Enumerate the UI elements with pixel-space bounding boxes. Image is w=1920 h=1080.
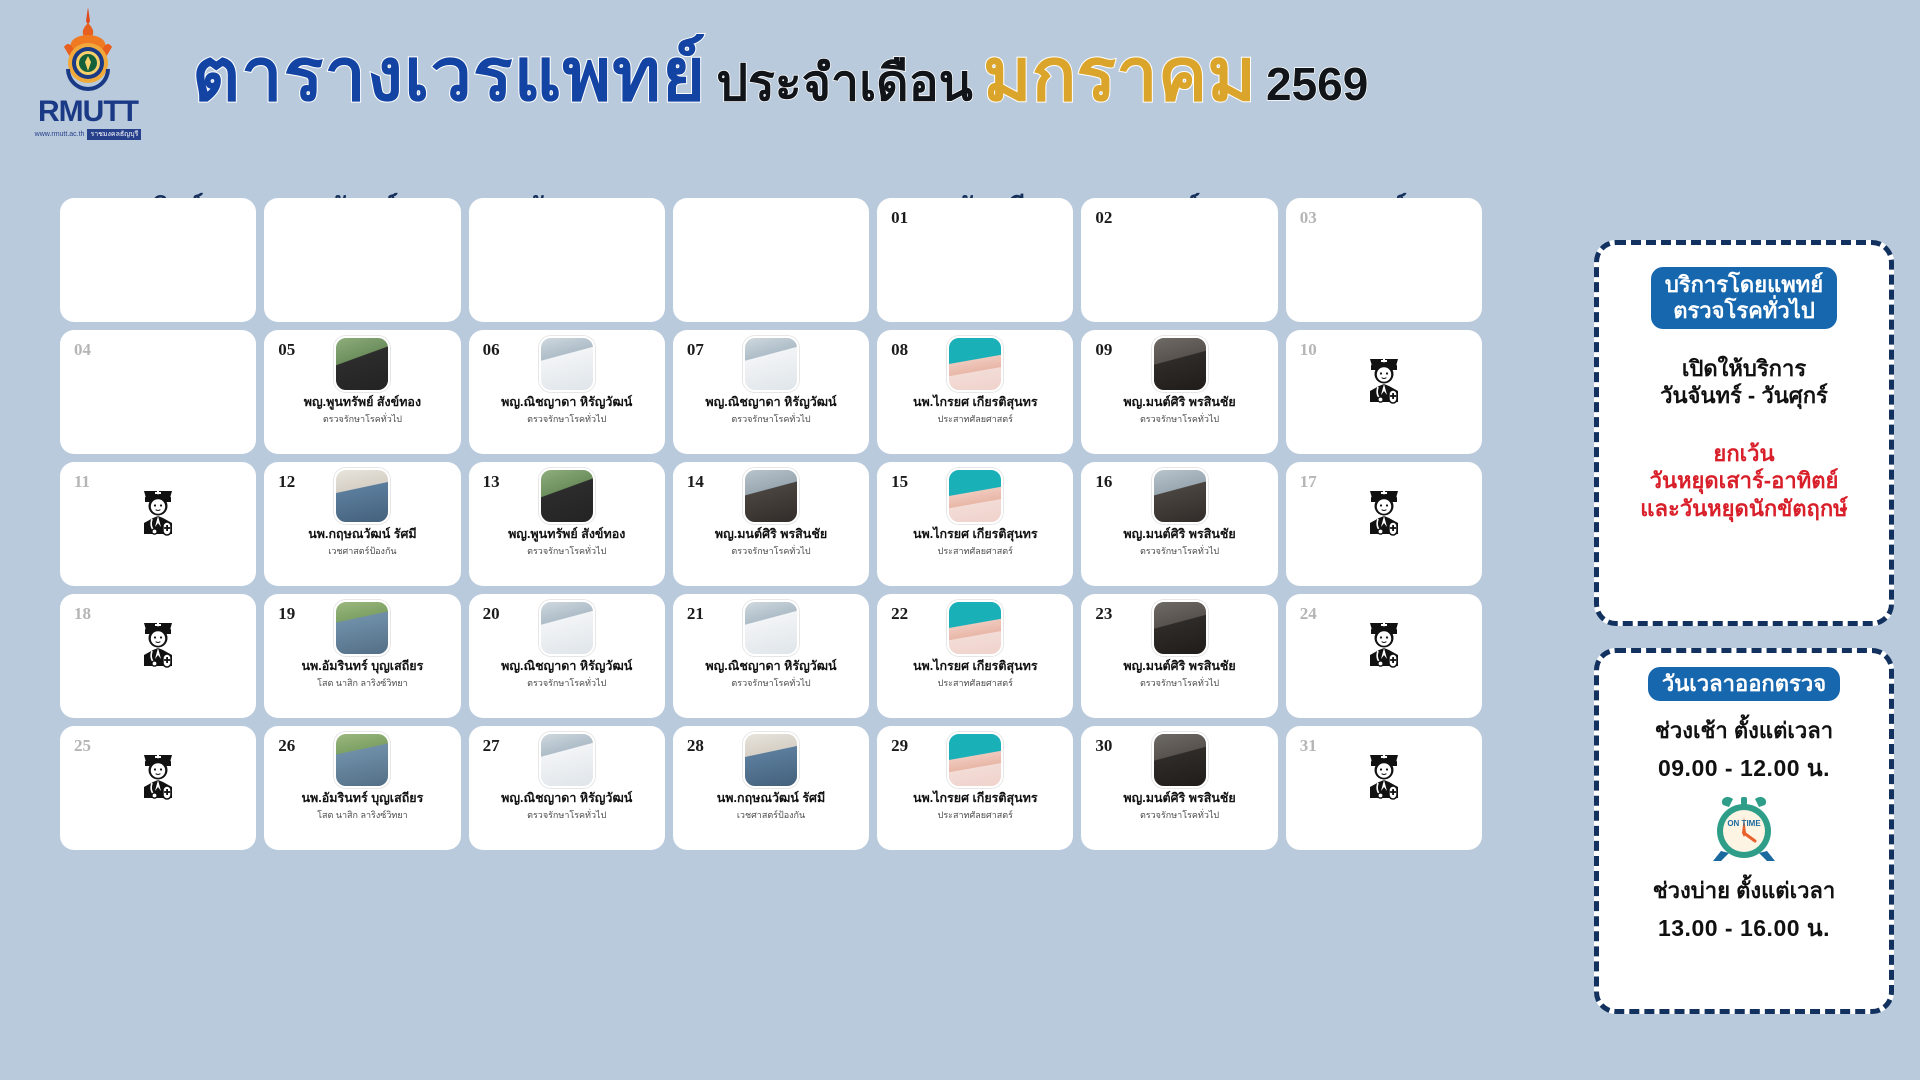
calendar-day-02: 02 <box>1081 198 1277 322</box>
doctor-specialty: ตรวจรักษาโรคทั่วไป <box>323 412 402 426</box>
calendar-day-16[interactable]: 16พญ.มนต์ศิริ พรสินชัยตรวจรักษาโรคทั่วไป <box>1081 462 1277 586</box>
service-except-line3: และวันหยุดนักขัตฤกษ์ <box>1640 495 1847 523</box>
doctor-photo <box>743 600 799 656</box>
doctor-specialty: ตรวจรักษาโรคทั่วไป <box>527 676 606 690</box>
doctor-photo <box>947 336 1003 392</box>
closed-day-marker <box>1286 612 1482 714</box>
doctor-specialty: ตรวจรักษาโรคทั่วไป <box>1140 544 1219 558</box>
page-title: ตารางเวรแพทย์ ประจำเดือน มกราคม 2569 <box>192 38 1368 112</box>
doctor-entry: นพ.อัมรินทร์ บุญเสถียรโสต นาสิก ลาริงซ์ว… <box>264 730 460 846</box>
doctor-name: พญ.พูนทรัพย์ สังข์ทอง <box>508 528 625 542</box>
doctor-photo <box>743 336 799 392</box>
service-chip: บริการโดยแพทย์ ตรวจโรคทั่วไป <box>1651 267 1837 329</box>
closed-day-marker <box>60 744 256 846</box>
doctor-specialty: ตรวจรักษาโรคทั่วไป <box>1140 412 1219 426</box>
doctor-entry: นพ.กฤษณวัฒน์ รัศมีเวชศาสตร์ป้องกัน <box>673 730 869 846</box>
calendar-day-04: 04 <box>60 330 256 454</box>
calendar-day-blank <box>264 198 460 322</box>
doctor-name: พญ.ณิชญาดา หิรัญวัฒน์ <box>705 660 836 674</box>
logo-subtext: www.rmutt.ac.th ราชมงคลธัญบุรี <box>35 129 142 140</box>
doctor-name: นพ.อัมรินทร์ บุญเสถียร <box>302 660 424 674</box>
doctor-entry: พญ.ณิชญาดา หิรัญวัฒน์ตรวจรักษาโรคทั่วไป <box>673 334 869 450</box>
doctor-name: พญ.ณิชญาดา หิรัญวัฒน์ <box>501 792 632 806</box>
doctor-photo <box>947 732 1003 788</box>
doctor-entry: พญ.ณิชญาดา หิรัญวัฒน์ตรวจรักษาโรคทั่วไป <box>469 598 665 714</box>
service-chip-line2: ตรวจโรคทั่วไป <box>1665 298 1823 324</box>
doctor-name: พญ.มนต์ศิริ พรสินชัย <box>1123 660 1235 674</box>
doctor-entry: พญ.มนต์ศิริ พรสินชัยตรวจรักษาโรคทั่วไป <box>1081 598 1277 714</box>
doctor-photo <box>539 336 595 392</box>
calendar-day-01: 01 <box>877 198 1073 322</box>
duty-roster-page: RMUTT www.rmutt.ac.th ราชมงคลธัญบุรี ตาร… <box>0 0 1920 1080</box>
doctor-name: นพ.ไกรยศ เกียรติสุนทร <box>913 528 1038 542</box>
doctor-name: นพ.ไกรยศ เกียรติสุนทร <box>913 660 1038 674</box>
title-year: 2569 <box>1266 61 1368 107</box>
closed-day-marker <box>1286 348 1482 450</box>
day-number: 04 <box>74 340 91 360</box>
day-number: 02 <box>1095 208 1112 228</box>
service-except-line2: วันหยุดเสาร์-อาทิตย์ <box>1640 467 1847 495</box>
nurse-icon <box>135 612 181 668</box>
doctor-entry: พญ.พูนทรัพย์ สังข์ทองตรวจรักษาโรคทั่วไป <box>469 466 665 582</box>
clock-label: ON TIME <box>1727 819 1761 828</box>
doctor-specialty: ประสาทศัลยศาสตร์ <box>938 676 1013 690</box>
doctor-photo <box>334 468 390 524</box>
doctor-photo <box>947 468 1003 524</box>
page-header: RMUTT www.rmutt.ac.th ราชมงคลธัญบุรี ตาร… <box>0 0 1920 150</box>
doctor-name: พญ.มนต์ศิริ พรสินชัย <box>1123 792 1235 806</box>
doctor-specialty: เวชศาสตร์ป้องกัน <box>328 544 396 558</box>
doctor-entry: พญ.ณิชญาดา หิรัญวัฒน์ตรวจรักษาโรคทั่วไป <box>673 598 869 714</box>
doctor-photo <box>1152 732 1208 788</box>
doctor-name: พญ.ณิชญาดา หิรัญวัฒน์ <box>705 396 836 410</box>
logo-tag: ราชมงคลธัญบุรี <box>87 129 141 140</box>
nurse-icon <box>1361 348 1407 404</box>
service-open-line1: เปิดให้บริการ <box>1660 355 1828 383</box>
calendar-day-14[interactable]: 14พญ.มนต์ศิริ พรสินชัยตรวจรักษาโรคทั่วไป <box>673 462 869 586</box>
doctor-name: พญ.พูนทรัพย์ สังข์ทอง <box>304 396 421 410</box>
doctor-entry: พญ.พูนทรัพย์ สังข์ทองตรวจรักษาโรคทั่วไป <box>264 334 460 450</box>
closed-day-marker <box>1286 744 1482 846</box>
service-except-block: ยกเว้น วันหยุดเสาร์-อาทิตย์ และวันหยุดนั… <box>1640 440 1847 523</box>
hours-chip: วันเวลาออกตรวจ <box>1648 667 1840 701</box>
calendar-day-24: 24 <box>1286 594 1482 718</box>
doctor-photo <box>1152 336 1208 392</box>
closed-day-marker <box>60 480 256 582</box>
calendar-grid: 0102030405พญ.พูนทรัพย์ สังข์ทองตรวจรักษา… <box>60 198 1482 850</box>
service-info-panel: บริการโดยแพทย์ ตรวจโรคทั่วไป เปิดให้บริก… <box>1594 240 1894 626</box>
calendar-day-11: 11 <box>60 462 256 586</box>
doctor-name: นพ.กฤษณวัฒน์ รัศมี <box>308 528 416 542</box>
service-chip-line1: บริการโดยแพทย์ <box>1665 272 1823 298</box>
rmutt-emblem-icon <box>42 5 134 101</box>
calendar-day-blank <box>469 198 665 322</box>
calendar-day-27[interactable]: 27พญ.ณิชญาดา หิรัญวัฒน์ตรวจรักษาโรคทั่วไ… <box>469 726 665 850</box>
calendar-day-blank <box>673 198 869 322</box>
calendar-day-18: 18 <box>60 594 256 718</box>
doctor-photo <box>334 336 390 392</box>
doctor-entry: พญ.มนต์ศิริ พรสินชัยตรวจรักษาโรคทั่วไป <box>1081 466 1277 582</box>
doctor-specialty: ตรวจรักษาโรคทั่วไป <box>527 808 606 822</box>
day-number: 01 <box>891 208 908 228</box>
calendar-day-blank <box>60 198 256 322</box>
calendar-day-21[interactable]: 21พญ.ณิชญาดา หิรัญวัฒน์ตรวจรักษาโรคทั่วไ… <box>673 594 869 718</box>
doctor-entry: นพ.กฤษณวัฒน์ รัศมีเวชศาสตร์ป้องกัน <box>264 466 460 582</box>
nurse-icon <box>135 744 181 800</box>
doctor-specialty: เวชศาสตร์ป้องกัน <box>737 808 805 822</box>
doctor-specialty: ตรวจรักษาโรคทั่วไป <box>731 544 810 558</box>
doctor-entry: นพ.อัมรินทร์ บุญเสถียรโสต นาสิก ลาริงซ์ว… <box>264 598 460 714</box>
calendar-day-15[interactable]: 15นพ.ไกรยศ เกียรติสุนทรประสาทศัลยศาสตร์ <box>877 462 1073 586</box>
calendar-day-06[interactable]: 06พญ.ณิชญาดา หิรัญวัฒน์ตรวจรักษาโรคทั่วไ… <box>469 330 665 454</box>
doctor-entry: พญ.มนต์ศิริ พรสินชัยตรวจรักษาโรคทั่วไป <box>1081 730 1277 846</box>
doctor-entry: พญ.ณิชญาดา หิรัญวัฒน์ตรวจรักษาโรคทั่วไป <box>469 730 665 846</box>
nurse-icon <box>1361 612 1407 668</box>
nurse-icon <box>135 480 181 536</box>
doctor-photo <box>1152 600 1208 656</box>
doctor-photo <box>334 732 390 788</box>
doctor-entry: พญ.ณิชญาดา หิรัญวัฒน์ตรวจรักษาโรคทั่วไป <box>469 334 665 450</box>
doctor-name: พญ.ณิชญาดา หิรัญวัฒน์ <box>501 396 632 410</box>
doctor-specialty: ตรวจรักษาโรคทั่วไป <box>527 544 606 558</box>
doctor-photo <box>539 468 595 524</box>
day-number: 03 <box>1300 208 1317 228</box>
calendar-day-28[interactable]: 28นพ.กฤษณวัฒน์ รัศมีเวชศาสตร์ป้องกัน <box>673 726 869 850</box>
nurse-icon <box>1361 744 1407 800</box>
doctor-specialty: ตรวจรักษาโรคทั่วไป <box>527 412 606 426</box>
doctor-entry: นพ.ไกรยศ เกียรติสุนทรประสาทศัลยศาสตร์ <box>877 598 1073 714</box>
title-main: ตารางเวรแพทย์ <box>192 38 706 112</box>
doctor-name: นพ.อัมรินทร์ บุญเสถียร <box>302 792 424 806</box>
hours-info-panel: วันเวลาออกตรวจ ช่วงเช้า ตั้งแต่เวลา 09.0… <box>1594 648 1894 1014</box>
afternoon-time: 13.00 - 16.00 น. <box>1658 911 1830 947</box>
doctor-specialty: ตรวจรักษาโรคทั่วไป <box>1140 676 1219 690</box>
calendar-day-07[interactable]: 07พญ.ณิชญาดา หิรัญวัฒน์ตรวจรักษาโรคทั่วไ… <box>673 330 869 454</box>
doctor-specialty: โสต นาสิก ลาริงซ์วิทยา <box>317 808 408 822</box>
doctor-specialty: ประสาทศัลยศาสตร์ <box>938 544 1013 558</box>
rmutt-logo: RMUTT www.rmutt.ac.th ราชมงคลธัญบุรี <box>14 5 162 145</box>
calendar-day-25: 25 <box>60 726 256 850</box>
doctor-entry: พญ.มนต์ศิริ พรสินชัยตรวจรักษาโรคทั่วไป <box>673 466 869 582</box>
title-month: มกราคม <box>983 38 1256 112</box>
doctor-entry: นพ.ไกรยศ เกียรติสุนทรประสาทศัลยศาสตร์ <box>877 730 1073 846</box>
doctor-photo <box>743 468 799 524</box>
doctor-name: นพ.กฤษณวัฒน์ รัศมี <box>717 792 825 806</box>
calendar-day-09[interactable]: 09พญ.มนต์ศิริ พรสินชัยตรวจรักษาโรคทั่วไป <box>1081 330 1277 454</box>
morning-time: 09.00 - 12.00 น. <box>1658 751 1830 787</box>
doctor-specialty: ตรวจรักษาโรคทั่วไป <box>731 412 810 426</box>
calendar-day-08[interactable]: 08นพ.ไกรยศ เกียรติสุนทรประสาทศัลยศาสตร์ <box>877 330 1073 454</box>
calendar-day-13[interactable]: 13พญ.พูนทรัพย์ สังข์ทองตรวจรักษาโรคทั่วไ… <box>469 462 665 586</box>
closed-day-marker <box>1286 480 1482 582</box>
doctor-entry: พญ.มนต์ศิริ พรสินชัยตรวจรักษาโรคทั่วไป <box>1081 334 1277 450</box>
closed-day-marker <box>60 612 256 714</box>
logo-url: www.rmutt.ac.th <box>35 131 85 138</box>
doctor-photo <box>743 732 799 788</box>
calendar-day-26[interactable]: 26นพ.อัมรินทร์ บุญเสถียรโสต นาสิก ลาริงซ… <box>264 726 460 850</box>
calendar-day-20[interactable]: 20พญ.ณิชญาดา หิรัญวัฒน์ตรวจรักษาโรคทั่วไ… <box>469 594 665 718</box>
doctor-photo <box>1152 468 1208 524</box>
afternoon-label: ช่วงบ่าย ตั้งแต่เวลา <box>1653 873 1836 908</box>
doctor-photo <box>947 600 1003 656</box>
logo-wordmark: RMUTT <box>38 97 138 127</box>
calendar-day-19[interactable]: 19นพ.อัมรินทร์ บุญเสถียรโสต นาสิก ลาริงซ… <box>264 594 460 718</box>
nurse-icon <box>1361 480 1407 536</box>
calendar-day-23[interactable]: 23พญ.มนต์ศิริ พรสินชัยตรวจรักษาโรคทั่วไป <box>1081 594 1277 718</box>
service-except-line1: ยกเว้น <box>1640 440 1847 468</box>
doctor-entry: นพ.ไกรยศ เกียรติสุนทรประสาทศัลยศาสตร์ <box>877 334 1073 450</box>
doctor-specialty: ตรวจรักษาโรคทั่วไป <box>1140 808 1219 822</box>
calendar-day-10: 10 <box>1286 330 1482 454</box>
calendar-day-30[interactable]: 30พญ.มนต์ศิริ พรสินชัยตรวจรักษาโรคทั่วไป <box>1081 726 1277 850</box>
doctor-photo <box>539 732 595 788</box>
doctor-specialty: ตรวจรักษาโรคทั่วไป <box>731 676 810 690</box>
doctor-name: พญ.มนต์ศิริ พรสินชัย <box>715 528 827 542</box>
doctor-name: นพ.ไกรยศ เกียรติสุนทร <box>913 396 1038 410</box>
calendar-day-12[interactable]: 12นพ.กฤษณวัฒน์ รัศมีเวชศาสตร์ป้องกัน <box>264 462 460 586</box>
morning-label: ช่วงเช้า ตั้งแต่เวลา <box>1655 713 1833 748</box>
doctor-name: นพ.ไกรยศ เกียรติสุนทร <box>913 792 1038 806</box>
doctor-specialty: ประสาทศัลยศาสตร์ <box>938 808 1013 822</box>
doctor-name: พญ.มนต์ศิริ พรสินชัย <box>1123 528 1235 542</box>
calendar-day-29[interactable]: 29นพ.ไกรยศ เกียรติสุนทรประสาทศัลยศาสตร์ <box>877 726 1073 850</box>
calendar-day-22[interactable]: 22นพ.ไกรยศ เกียรติสุนทรประสาทศัลยศาสตร์ <box>877 594 1073 718</box>
calendar-day-03: 03 <box>1286 198 1482 322</box>
doctor-entry: นพ.ไกรยศ เกียรติสุนทรประสาทศัลยศาสตร์ <box>877 466 1073 582</box>
calendar-day-17: 17 <box>1286 462 1482 586</box>
doctor-specialty: ประสาทศัลยศาสตร์ <box>938 412 1013 426</box>
doctor-name: พญ.มนต์ศิริ พรสินชัย <box>1123 396 1235 410</box>
calendar-day-31: 31 <box>1286 726 1482 850</box>
title-prefix: ประจำเดือน <box>716 58 973 108</box>
doctor-photo <box>334 600 390 656</box>
doctor-specialty: โสต นาสิก ลาริงซ์วิทยา <box>317 676 408 690</box>
doctor-name: พญ.ณิชญาดา หิรัญวัฒน์ <box>501 660 632 674</box>
calendar-day-05[interactable]: 05พญ.พูนทรัพย์ สังข์ทองตรวจรักษาโรคทั่วไ… <box>264 330 460 454</box>
alarm-clock-icon: ON TIME <box>1705 789 1783 867</box>
service-open-line2: วันจันทร์ - วันศุกร์ <box>1660 382 1828 410</box>
service-open-block: เปิดให้บริการ วันจันทร์ - วันศุกร์ <box>1660 355 1828 410</box>
doctor-photo <box>539 600 595 656</box>
